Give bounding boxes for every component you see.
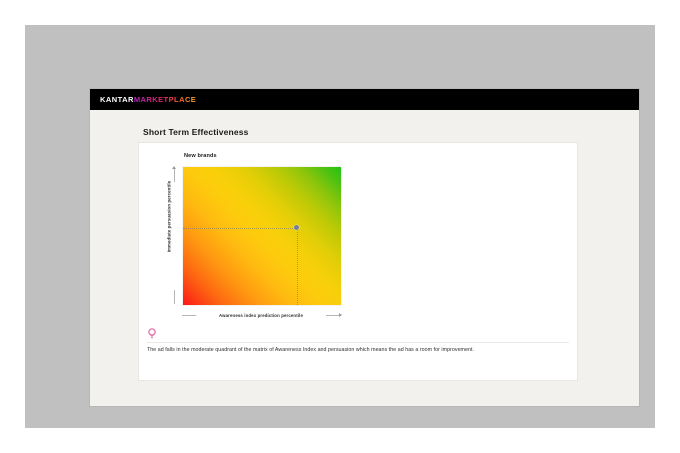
app-window: KANTARMARKETPLACE Short Term Effectivene… (90, 89, 639, 406)
brand-logo-kantar: KANTAR (100, 95, 134, 104)
brand-header: KANTARMARKETPLACE (90, 89, 639, 110)
marker-leader-horizontal (183, 228, 297, 229)
brand-logo-marketplace: MARKETPLACE (134, 95, 196, 104)
x-axis-tick-right (326, 315, 339, 316)
y-axis-tick-top (174, 169, 175, 182)
x-axis: Awareness index prediction percentile (182, 310, 342, 320)
x-axis-label: Awareness index prediction percentile (196, 313, 326, 318)
marker-leader-vertical (297, 228, 298, 305)
plot-area (182, 166, 342, 306)
desktop-backdrop: KANTARMARKETPLACE Short Term Effectivene… (25, 25, 655, 428)
effectiveness-matrix-chart: New brands Immediate persuasion percenti… (155, 153, 375, 323)
y-axis-label: Immediate persuasion percentile (167, 172, 172, 262)
x-axis-arrow-icon (339, 313, 342, 317)
plot-gradient-overlay (183, 167, 341, 305)
insight-divider (147, 342, 569, 343)
screenshot-root: KANTARMARKETPLACE Short Term Effectivene… (0, 0, 680, 453)
y-axis-tick-bottom (174, 290, 175, 304)
insight-text: The ad falls in the moderate quadrant of… (147, 347, 569, 354)
lightbulb-icon (147, 328, 157, 339)
report-card: New brands Immediate persuasion percenti… (138, 142, 578, 381)
data-point-marker[interactable] (294, 225, 299, 230)
x-axis-tick-left (182, 315, 196, 316)
brand-logo[interactable]: KANTARMARKETPLACE (100, 96, 196, 104)
y-axis: Immediate persuasion percentile (163, 166, 181, 306)
chart-caption: New brands (184, 153, 217, 159)
page-title: Short Term Effectiveness (143, 127, 248, 137)
